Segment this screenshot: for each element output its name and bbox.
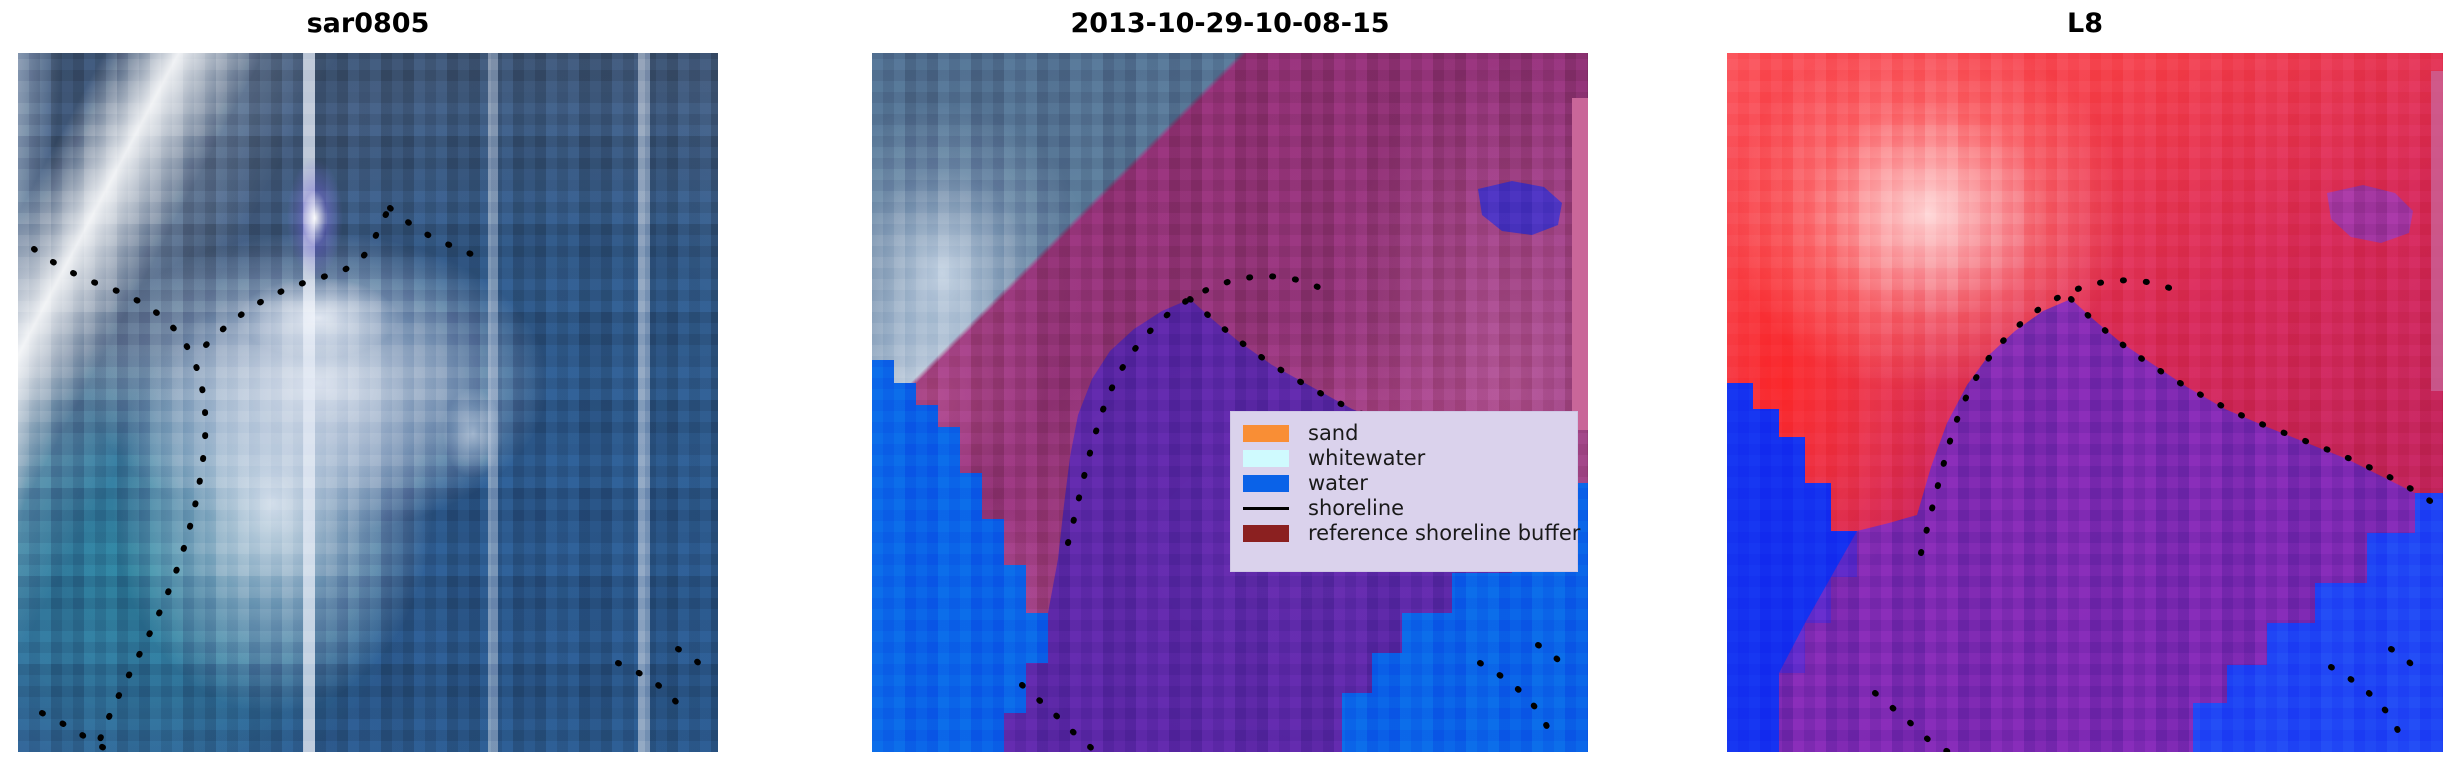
reference-shoreline-buffer-strip-l8 — [2431, 71, 2443, 391]
legend-swatch-reference-shoreline-buffer — [1243, 525, 1289, 542]
legend-swatch-whitewater — [1243, 450, 1289, 467]
legend-swatch-water — [1243, 475, 1289, 492]
legend-label-whitewater: whitewater — [1308, 448, 1425, 469]
image-axes-sar[interactable] — [18, 53, 718, 752]
legend-row-whitewater: whitewater — [1243, 446, 1567, 471]
legend-swatch-shoreline — [1243, 507, 1289, 510]
panel-sar: sar0805 — [18, 0, 718, 770]
legend-label-sand: sand — [1308, 423, 1358, 444]
legend-row-shoreline: shoreline — [1243, 496, 1567, 521]
image-axes-classified[interactable]: sand whitewater water shoreline referenc… — [872, 53, 1588, 752]
panel-title-classified: 2013-10-29-10-08-15 — [872, 8, 1588, 40]
panel-title-sar: sar0805 — [18, 8, 718, 40]
legend: sand whitewater water shoreline referenc… — [1230, 411, 1578, 572]
legend-label-shoreline: shoreline — [1308, 498, 1404, 519]
reference-shoreline-buffer-strip — [1572, 98, 1588, 430]
satellite-pixel-texture — [18, 53, 718, 752]
legend-label-reference-shoreline-buffer: reference shoreline buffer — [1308, 523, 1580, 544]
l8-pixel-texture — [1727, 53, 2443, 752]
classified-pixel-texture — [872, 53, 1588, 752]
figure-root: sar0805 2013-10 — [0, 0, 2460, 770]
legend-swatch-sand — [1243, 425, 1289, 442]
image-axes-l8[interactable] — [1727, 53, 2443, 752]
panel-classified: 2013-10-29-10-08-15 — [872, 0, 1588, 770]
legend-row-sand: sand — [1243, 421, 1567, 446]
legend-row-reference-shoreline-buffer: reference shoreline buffer — [1243, 521, 1567, 546]
panel-l8: L8 — [1727, 0, 2443, 770]
panel-title-l8: L8 — [1727, 8, 2443, 40]
legend-row-water: water — [1243, 471, 1567, 496]
legend-label-water: water — [1308, 473, 1368, 494]
